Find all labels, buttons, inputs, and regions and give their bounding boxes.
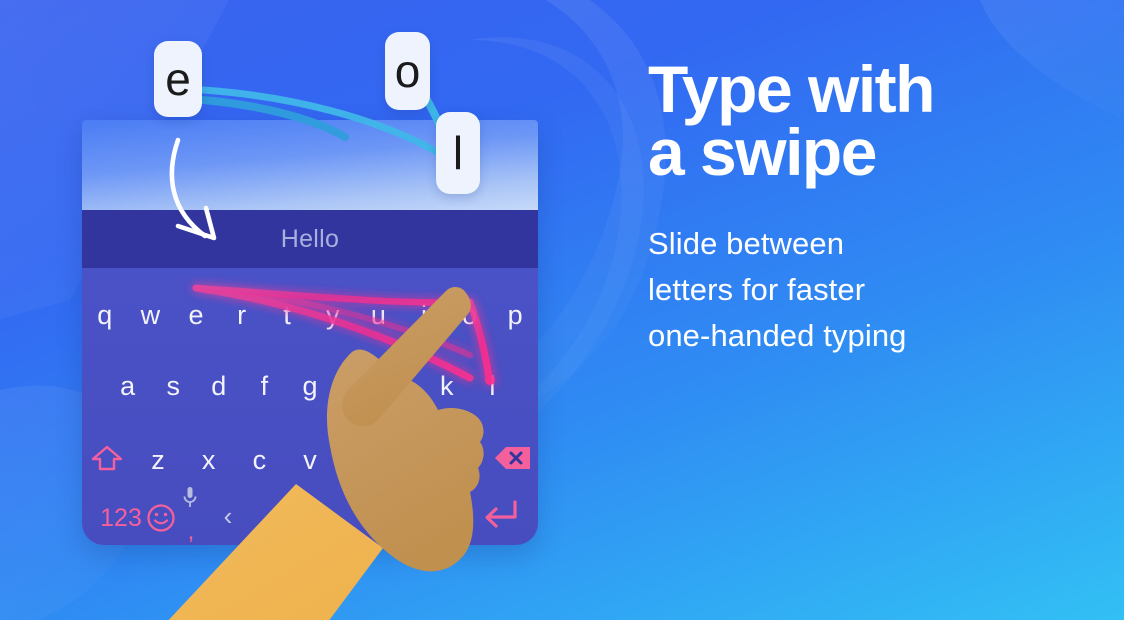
period-key[interactable]: . [428,514,458,540]
key-x[interactable]: x [183,447,234,474]
enter-key[interactable] [474,492,526,538]
key-z[interactable]: z [133,447,184,474]
key-g[interactable]: g [287,373,333,400]
key-k[interactable]: k [424,373,470,400]
key-d[interactable]: d [196,373,242,400]
key-h[interactable]: h [333,373,379,400]
key-m[interactable]: m [437,447,488,474]
promo-copy: Type with a swipe Slide between letters … [648,58,1088,358]
microphone-key[interactable] [170,482,210,514]
key-r[interactable]: r [219,302,265,329]
prev-suggestion-key[interactable]: ‹ [210,496,246,536]
key-n[interactable]: n [386,447,437,474]
floating-key-o[interactable]: o [385,32,430,110]
promo-subtitle: Slide between letters for faster one-han… [648,183,1088,358]
key-b[interactable]: b [335,447,386,474]
key-q[interactable]: q [82,302,128,329]
keyboard-row-2: a s d f g h j k l [82,373,538,400]
suggestion-word[interactable]: Hello [281,225,339,254]
enter-return-icon [479,498,521,532]
keyboard-row-1: q w e r t y u i o p [82,302,538,329]
key-w[interactable]: w [128,302,174,329]
keyboard-keys: q w e r t y u i o p a s d f g h j [82,268,538,545]
key-f[interactable]: f [242,373,288,400]
comma-key[interactable]: , [176,520,206,544]
shift-arrow-icon [90,444,124,472]
microphone-icon [182,486,198,510]
floating-key-l[interactable]: l [436,112,480,194]
promo-banner: Type with a swipe Slide between letters … [0,0,1124,620]
key-i[interactable]: i [401,302,447,329]
floating-key-e[interactable]: e [154,41,202,117]
key-y[interactable]: y [310,302,356,329]
keyboard-row-4: 123 [82,504,538,545]
shift-key[interactable] [82,444,133,477]
key-a[interactable]: a [105,373,151,400]
key-s[interactable]: s [150,373,196,400]
key-u[interactable]: u [356,302,402,329]
keyboard-row-3: z x c v b n m [82,444,538,477]
suggestion-bar[interactable]: Hello [82,210,538,268]
punctuation-key[interactable]: ,!? [418,476,464,506]
key-e[interactable]: e [173,302,219,329]
key-t[interactable]: t [264,302,310,329]
key-l[interactable]: l [470,373,516,400]
key-c[interactable]: c [234,447,285,474]
page-title: Type with a swipe [648,58,1088,183]
backspace-delete-icon [494,445,532,471]
key-v[interactable]: v [285,447,336,474]
key-j[interactable]: j [378,373,424,400]
key-p[interactable]: p [492,302,538,329]
key-o[interactable]: o [447,302,493,329]
backspace-key[interactable] [487,445,538,476]
